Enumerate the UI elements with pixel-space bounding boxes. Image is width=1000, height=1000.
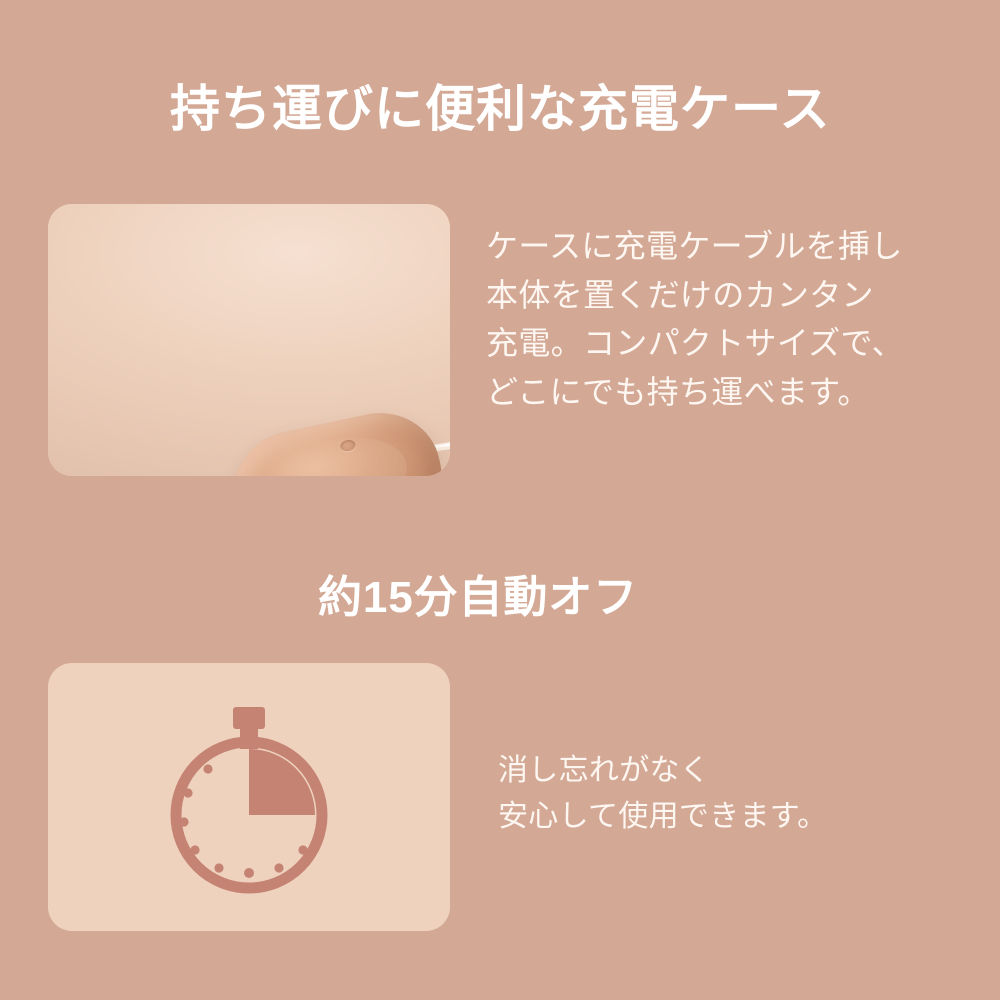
stopwatch-icon-card <box>48 663 450 931</box>
section-2-body-text: 消し忘れがなく 安心して使用できます。 <box>498 748 827 839</box>
case-lid-inner-surface <box>252 425 415 476</box>
section-1-heading: 持ち運びに便利な充電ケース <box>170 84 831 134</box>
product-photo-scene <box>48 204 450 476</box>
stopwatch-icon <box>48 663 450 931</box>
product-photo-card <box>48 204 450 476</box>
charging-case-lid <box>224 402 450 476</box>
section-1-body-text: ケースに充電ケーブルを挿し 本体を置くだけのカンタン 充電。コンパクトサイズで、… <box>486 222 904 417</box>
section-2-heading: 約15分自動オフ <box>318 576 638 620</box>
product-feature-page: 持ち運びに便利な充電ケース <box>0 0 1000 1000</box>
